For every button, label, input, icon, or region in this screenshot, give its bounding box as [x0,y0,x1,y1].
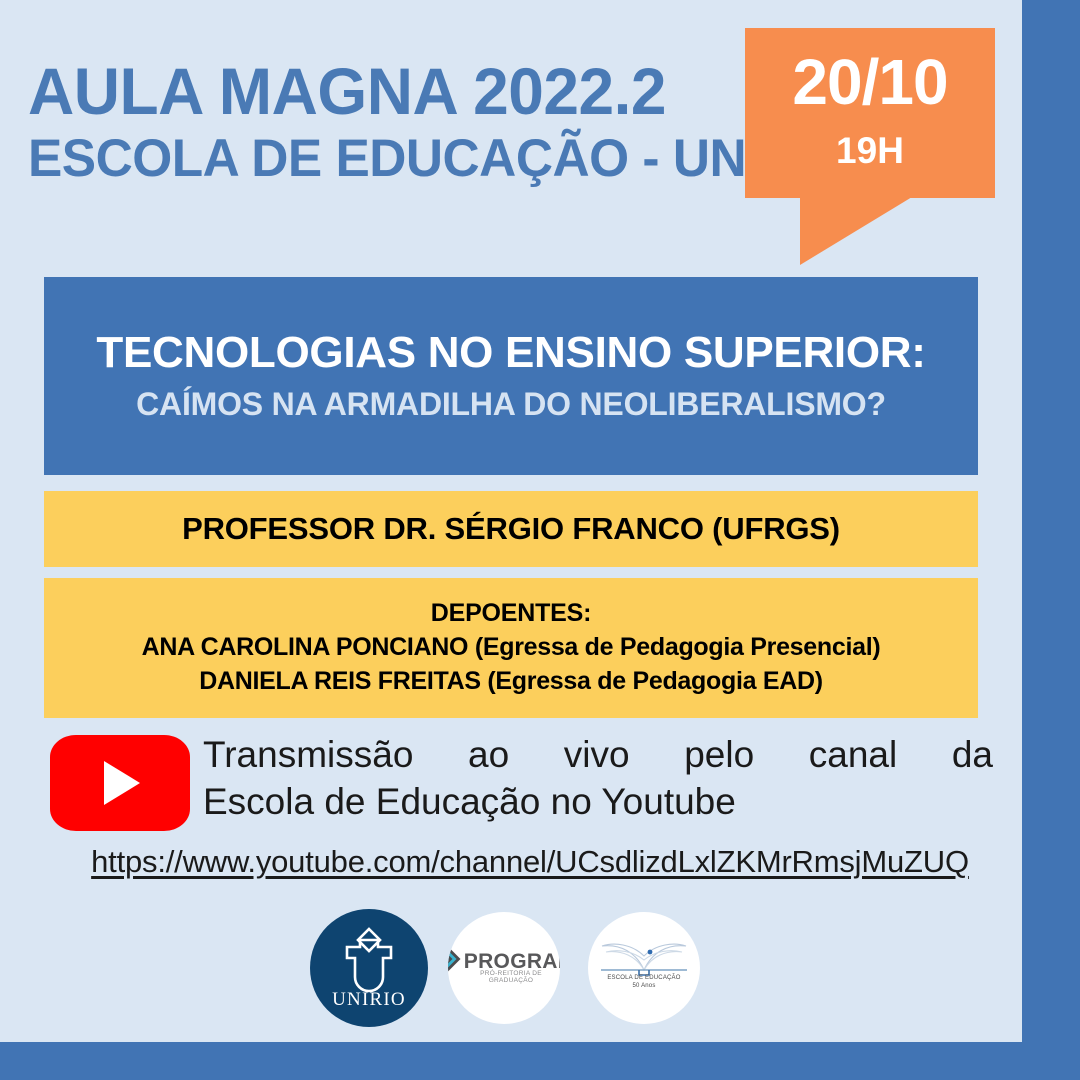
title-panel: TECNOLOGIAS NO ENSINO SUPERIOR: CAÍMOS N… [44,277,978,475]
guests-panel: DEPOENTES: ANA CAROLINA PONCIANO (Egress… [44,578,978,718]
guests-heading: DEPOENTES: [431,597,592,631]
event-poster: AULA MAGNA 2022.2 ESCOLA DE EDUCAÇÃO - U… [0,0,1080,1080]
guest-2: DANIELA REIS FREITAS (Egressa de Pedagog… [199,665,823,699]
header-title-line-2: ESCOLA DE EDUCAÇÃO - UNIRIO [28,132,736,185]
unirio-logo: UNIRIO [310,909,428,1027]
speaker-name: PROFESSOR DR. SÉRGIO FRANCO (UFRGS) [182,511,840,547]
header-title-line-1: AULA MAGNA 2022.2 [28,58,736,124]
poster-header: AULA MAGNA 2022.2 ESCOLA DE EDUCAÇÃO - U… [28,58,758,185]
escola-de-educacao-logo: ESCOLA DE EDUCAÇÃO 50 Anos [588,912,700,1024]
speaker-panel: PROFESSOR DR. SÉRGIO FRANCO (UFRGS) [44,491,978,567]
callout-tail [800,197,912,265]
prograd-tagline: PRÓ-REITORIA DE GRADUAÇÃO [448,970,560,984]
logo-row: UNIRIO PROGRAD PRÓ-REITORIA DE GRADUAÇÃO [300,905,740,1030]
broadcast-text: Transmissão ao vivo pelo canal da Escola… [203,732,993,826]
unirio-wordmark: UNIRIO [310,989,428,1011]
event-date: 20/10 [745,50,995,114]
lecture-subtitle: CAÍMOS NA ARMADILHA DO NEOLIBERALISMO? [136,387,886,422]
broadcast-line-1: Transmissão ao vivo pelo canal da [203,732,993,779]
guest-1: ANA CAROLINA PONCIANO (Egressa de Pedago… [142,631,881,665]
prograd-wordmark: PROGRAD [464,951,560,972]
prograd-logo: PROGRAD PRÓ-REITORIA DE GRADUAÇÃO [448,912,560,1024]
youtube-channel-link[interactable]: https://www.youtube.com/channel/UCsdlizd… [30,845,1030,879]
escola-caption: ESCOLA DE EDUCAÇÃO 50 Anos [588,974,700,990]
youtube-play-icon[interactable] [50,735,190,831]
decorative-band-right [1022,0,1080,1042]
decorative-band-bottom [0,1042,1080,1080]
date-callout: 20/10 19H [745,28,995,198]
escola-caption-line-1: ESCOLA DE EDUCAÇÃO [588,974,700,982]
broadcast-line-2: Escola de Educação no Youtube [203,779,993,826]
escola-caption-line-2: 50 Anos [588,982,700,990]
lecture-title: TECNOLOGIAS NO ENSINO SUPERIOR: [96,330,925,377]
event-time: 19H [745,132,995,169]
